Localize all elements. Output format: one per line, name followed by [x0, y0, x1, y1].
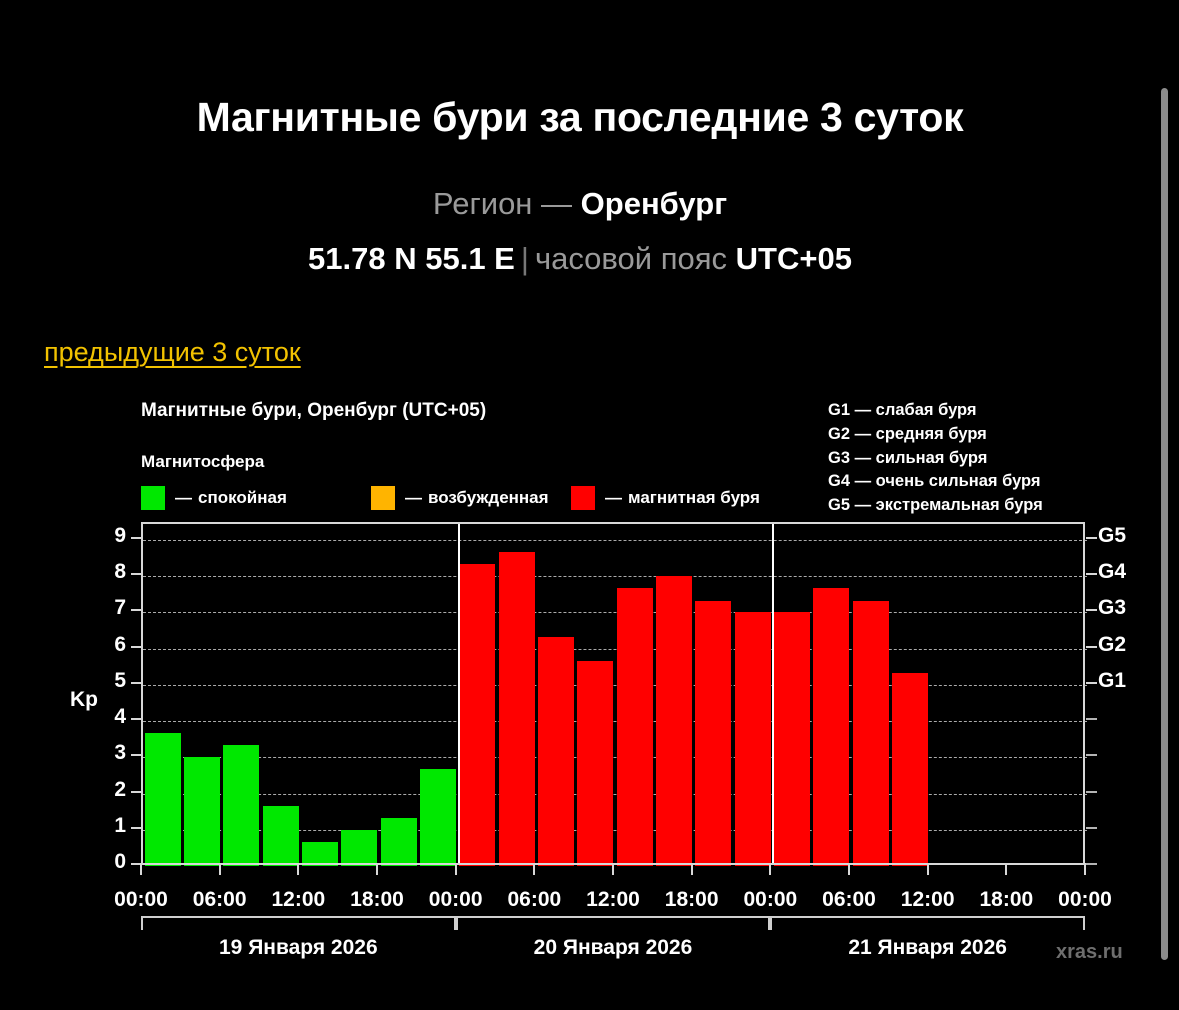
- g-scale-row-2: G2 — средняя буря: [828, 423, 1043, 447]
- legend-swatch-calm: [141, 486, 165, 510]
- x-tick-label: 00:00: [725, 888, 815, 912]
- g-scale-row-5: G5 — экстремальная буря: [828, 494, 1043, 518]
- y-tick-label-6: 6: [92, 633, 126, 657]
- day-bracket-tick-right: [1083, 916, 1085, 930]
- x-tick-mark: [691, 864, 693, 875]
- y-tick-label-9: 9: [92, 524, 126, 548]
- day-bracket-line: [770, 916, 1085, 918]
- g-scale-row-4: G4 — очень сильная буря: [828, 470, 1043, 494]
- y-tick-mark: [131, 827, 141, 829]
- bar: [617, 588, 653, 866]
- bar: [892, 673, 928, 866]
- day-label-1: 19 Января 2026: [141, 936, 456, 960]
- y-tick-label-7: 7: [92, 596, 126, 620]
- legend-label: магнитная буря: [628, 488, 760, 508]
- bar: [381, 818, 417, 866]
- x-tick-label: 06:00: [804, 888, 894, 912]
- g-scale-legend: G1 — слабая буряG2 — средняя буряG3 — си…: [828, 399, 1043, 518]
- legend-dash: —: [605, 488, 622, 508]
- y-tick-label-1: 1: [92, 814, 126, 838]
- x-tick-mark: [140, 864, 142, 875]
- bar: [774, 612, 810, 866]
- bar: [813, 588, 849, 866]
- bar: [853, 601, 889, 867]
- right-tick-mark: [1086, 646, 1097, 648]
- x-tick-mark: [455, 864, 457, 875]
- bar: [577, 661, 613, 866]
- legend-swatch-unsettled: [371, 486, 395, 510]
- right-tick-mark: [1086, 827, 1097, 829]
- x-tick-label: 00:00: [411, 888, 501, 912]
- bar: [735, 612, 771, 866]
- g-scale-row-1: G1 — слабая буря: [828, 399, 1043, 423]
- y-tick-mark: [131, 718, 141, 720]
- x-tick-label: 00:00: [96, 888, 186, 912]
- right-tick-mark: [1086, 754, 1097, 756]
- day-separator-2: [772, 524, 774, 864]
- day-separator-1: [458, 524, 460, 864]
- x-tick-label: 00:00: [1040, 888, 1130, 912]
- right-tick-mark: [1086, 537, 1097, 539]
- bar: [459, 564, 495, 866]
- x-tick-mark: [927, 864, 929, 875]
- y-tick-mark: [131, 537, 141, 539]
- bar: [499, 552, 535, 866]
- chart-container: Магнитные бури, Оренбург (UTC+05) Магнит…: [0, 0, 1179, 1010]
- y-tick-label-5: 5: [92, 669, 126, 693]
- legend-dash: —: [175, 488, 192, 508]
- x-tick-label: 18:00: [332, 888, 422, 912]
- day-bracket-line: [141, 916, 456, 918]
- y-tick-label-8: 8: [92, 560, 126, 584]
- day-bracket-line: [456, 916, 771, 918]
- right-tick-label-G2: G2: [1098, 633, 1126, 657]
- legend-dash: —: [405, 488, 422, 508]
- right-tick-mark: [1086, 791, 1097, 793]
- legend-swatch-storm: [571, 486, 595, 510]
- scrollbar-track[interactable]: [1161, 0, 1179, 1010]
- right-tick-label-G5: G5: [1098, 524, 1126, 548]
- y-tick-mark: [131, 609, 141, 611]
- x-tick-mark: [219, 864, 221, 875]
- x-tick-label: 18:00: [961, 888, 1051, 912]
- x-tick-mark: [848, 864, 850, 875]
- x-tick-label: 12:00: [568, 888, 658, 912]
- x-tick-mark: [612, 864, 614, 875]
- x-tick-label: 06:00: [489, 888, 579, 912]
- y-tick-mark: [131, 646, 141, 648]
- bar: [538, 637, 574, 866]
- bar-series: [143, 524, 1087, 866]
- day-label-2: 20 Января 2026: [456, 936, 771, 960]
- right-tick-mark: [1086, 682, 1097, 684]
- right-tick-label-G3: G3: [1098, 596, 1126, 620]
- g-scale-row-3: G3 — сильная буря: [828, 447, 1043, 471]
- watermark: xras.ru: [1056, 941, 1123, 964]
- right-tick-mark: [1086, 573, 1097, 575]
- y-tick-mark: [131, 682, 141, 684]
- chart-title: Магнитные бури, Оренбург (UTC+05): [141, 400, 486, 422]
- bar: [263, 806, 299, 866]
- bar: [145, 733, 181, 866]
- x-tick-label: 18:00: [647, 888, 737, 912]
- day-bracket-tick-left: [456, 916, 458, 930]
- right-tick-mark: [1086, 718, 1097, 720]
- y-tick-label-4: 4: [92, 705, 126, 729]
- day-bracket-3: [770, 916, 1085, 930]
- legend-label: спокойная: [198, 488, 287, 508]
- x-tick-label: 06:00: [175, 888, 265, 912]
- y-tick-label-3: 3: [92, 741, 126, 765]
- day-bracket-2: [456, 916, 771, 930]
- magnetosphere-label: Магнитосфера: [141, 452, 264, 472]
- scrollbar-thumb[interactable]: [1161, 88, 1168, 960]
- bar: [695, 601, 731, 867]
- day-label-3: 21 Января 2026: [770, 936, 1085, 960]
- bar: [420, 769, 456, 866]
- x-tick-mark: [769, 864, 771, 875]
- y-tick-label-2: 2: [92, 778, 126, 802]
- x-tick-label: 12:00: [253, 888, 343, 912]
- y-tick-mark: [131, 791, 141, 793]
- plot-area: [141, 522, 1085, 864]
- bar: [656, 576, 692, 866]
- day-bracket-tick-left: [770, 916, 772, 930]
- legend-item-calm: —спокойная: [141, 486, 287, 510]
- y-tick-mark: [131, 573, 141, 575]
- x-tick-mark: [1084, 864, 1086, 875]
- x-tick-label: 12:00: [883, 888, 973, 912]
- page-root: Магнитные бури за последние 3 суток Реги…: [0, 0, 1179, 1010]
- right-tick-label-G1: G1: [1098, 669, 1126, 693]
- y-tick-mark: [131, 754, 141, 756]
- right-tick-mark: [1086, 609, 1097, 611]
- bar: [223, 745, 259, 866]
- x-tick-mark: [297, 864, 299, 875]
- day-bracket-tick-left: [141, 916, 143, 930]
- legend-item-storm: —магнитная буря: [571, 486, 760, 510]
- right-tick-mark: [1086, 863, 1097, 865]
- bar: [184, 757, 220, 866]
- bar: [341, 830, 377, 866]
- x-tick-mark: [376, 864, 378, 875]
- x-tick-mark: [1005, 864, 1007, 875]
- x-axis-line: [141, 863, 1087, 865]
- legend-item-unsettled: —возбужденная: [371, 486, 549, 510]
- y-tick-label-0: 0: [92, 850, 126, 874]
- legend-label: возбужденная: [428, 488, 549, 508]
- day-bracket-1: [141, 916, 456, 930]
- x-tick-mark: [533, 864, 535, 875]
- right-tick-label-G4: G4: [1098, 560, 1126, 584]
